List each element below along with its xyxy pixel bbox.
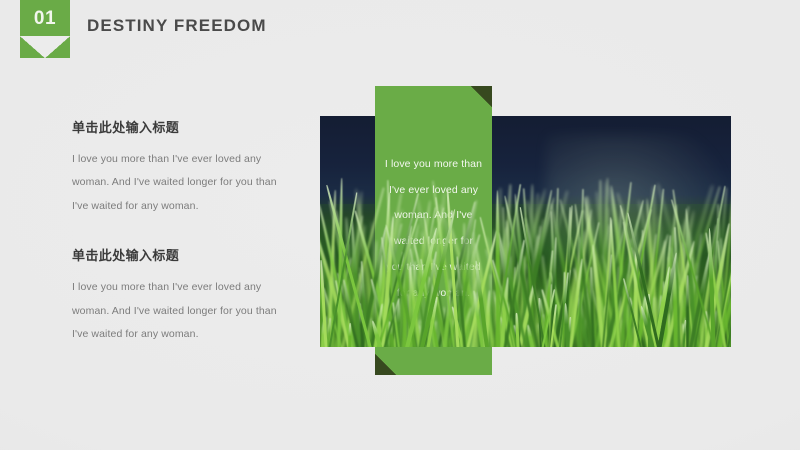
text-block-body: I love you more than I've ever loved any… [72,276,282,347]
left-text-column: 单击此处输入标题 I love you more than I've ever … [72,118,282,375]
ribbon-notch-shape [20,36,70,58]
slide-header: 01 DESTINY FREEDOM [0,0,800,70]
slide-canvas: 01 DESTINY FREEDOM 单击此处输入标题 I love you m… [0,0,800,450]
text-block: 单击此处输入标题 I love you more than I've ever … [72,118,282,218]
section-number-label: 01 [20,9,70,28]
text-block-heading: 单击此处输入标题 [72,246,282,266]
card-fold-top-right-icon [471,86,492,107]
text-block-heading: 单击此处输入标题 [72,118,282,138]
text-block-body: I love you more than I've ever loved any… [72,148,282,219]
card-fold-bottom-left-icon [375,354,396,375]
text-block: 单击此处输入标题 I love you more than I've ever … [72,246,282,346]
page-title: DESTINY FREEDOM [87,16,267,36]
section-number-ribbon: 01 [20,0,70,58]
